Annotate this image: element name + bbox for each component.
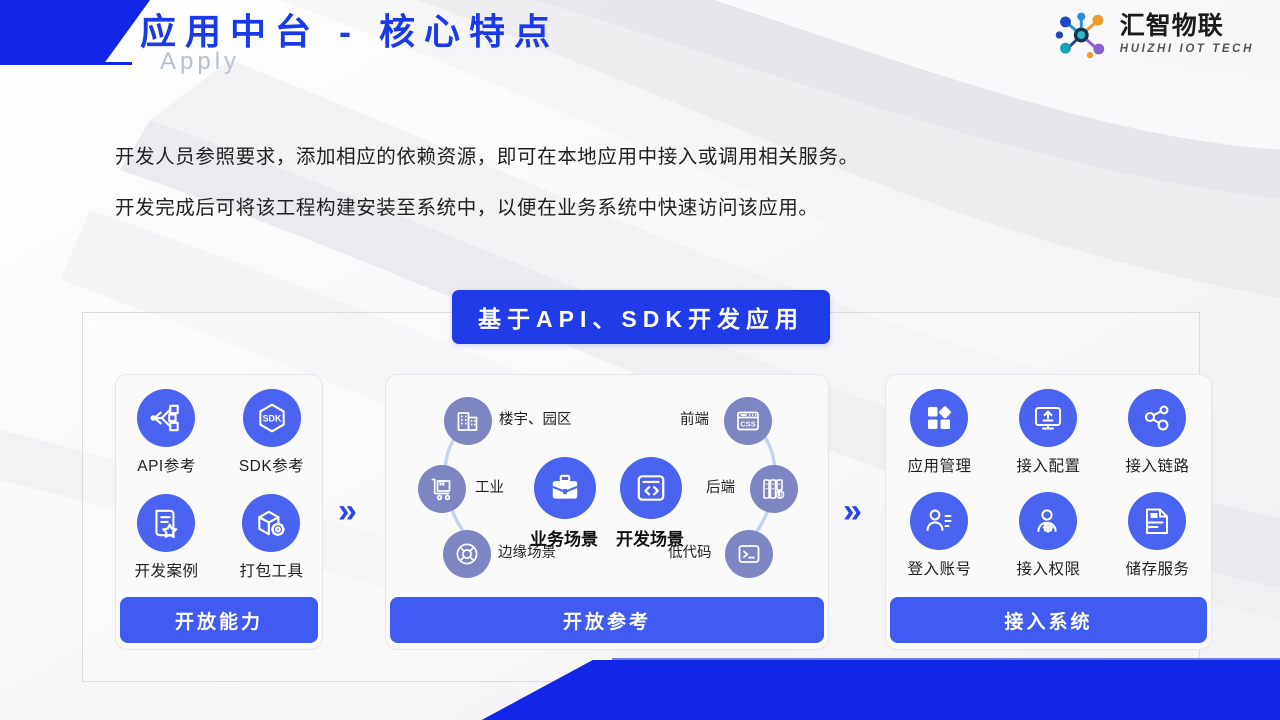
server-lb-icon[interactable]: LB: [750, 465, 798, 513]
icon-label: 应用管理: [907, 454, 971, 476]
briefcase-icon[interactable]: [534, 457, 596, 519]
edge-node-icon[interactable]: [443, 530, 491, 578]
icon-item-sdk-reference[interactable]: SDK SDK参考: [239, 389, 304, 476]
icon-label: API参考: [137, 454, 195, 476]
share-network-icon: [1128, 389, 1186, 447]
icon-item-dev-case[interactable]: 开发案例: [134, 494, 198, 581]
right-icon-grid: 应用管理 接入配置: [886, 389, 1211, 579]
sdk-hexagon-icon: SDK: [243, 389, 301, 447]
brand-logo: 汇智物联 HUIZHI IOT TECH: [1055, 8, 1254, 62]
chevron-right-icon-2: »: [843, 494, 856, 528]
icon-label: 登入账号: [907, 557, 971, 579]
user-account-icon: [910, 492, 968, 550]
panel-footer-open-capability[interactable]: 开放能力: [120, 597, 318, 643]
storage-document-icon: [1128, 492, 1186, 550]
logo-company-name-en: HUIZHI IOT TECH: [1120, 44, 1254, 56]
panel-footer-open-reference[interactable]: 开放参考: [390, 597, 824, 643]
footer-accent-parallelogram: [478, 660, 1280, 720]
icon-item-storage-service[interactable]: 储存服务: [1125, 492, 1189, 579]
slide-header: Apply 应用中台 - 核心特点 汇智物联 HUIZ: [0, 0, 1280, 70]
panel-open-capability: API参考 SDK SDK参考: [115, 374, 323, 650]
building-icon[interactable]: [444, 397, 492, 445]
slide-canvas: Apply 应用中台 - 核心特点 汇智物联 HUIZ: [0, 0, 1280, 720]
panel-footer-access-system[interactable]: 接入系统: [890, 597, 1207, 643]
icon-item-access-config[interactable]: 接入配置: [1016, 389, 1080, 476]
code-window-icon[interactable]: [620, 457, 682, 519]
left-icon-grid: API参考 SDK SDK参考: [116, 389, 322, 581]
header-accent-underline: [0, 62, 132, 65]
icon-label: 接入配置: [1016, 454, 1080, 476]
page-title: 应用中台 - 核心特点: [140, 7, 559, 57]
cluster-business-scene: 楼宇、园区 工业 边缘场景: [386, 375, 608, 603]
terminal-icon[interactable]: [725, 530, 773, 578]
icon-item-login-account[interactable]: 登入账号: [907, 492, 971, 579]
satellite-label-building: 楼宇、园区: [499, 408, 572, 429]
icon-label: 打包工具: [239, 559, 303, 581]
panel-open-reference: 楼宇、园区 工业 边缘场景: [385, 374, 829, 650]
box-gear-icon: [242, 494, 300, 552]
icon-label: 开发案例: [134, 559, 198, 581]
icon-item-access-permission[interactable]: 接入权限: [1016, 492, 1080, 579]
package-cart-icon[interactable]: [418, 465, 466, 513]
user-permission-icon: [1019, 492, 1077, 550]
footer-accent-line: [612, 658, 1280, 660]
hub-label-business-scene: 业务场景: [530, 525, 598, 550]
hub-label-dev-scene: 开发场景: [616, 525, 684, 550]
icon-item-app-management[interactable]: 应用管理: [907, 389, 971, 476]
icon-label: 储存服务: [1125, 557, 1189, 579]
icon-label: SDK参考: [239, 454, 304, 476]
api-branch-icon: [137, 389, 195, 447]
intro-line-1: 开发人员参照要求，添加相应的依赖资源，即可在本地应用中接入或调用相关服务。: [115, 140, 859, 169]
icon-item-access-link[interactable]: 接入链路: [1125, 389, 1189, 476]
document-star-icon: [137, 494, 195, 552]
icon-label: 接入权限: [1016, 557, 1080, 579]
app-blocks-icon: [910, 389, 968, 447]
icon-item-packaging-tool[interactable]: 打包工具: [239, 494, 303, 581]
icon-item-api-reference[interactable]: API参考: [137, 389, 195, 476]
satellite-label-frontend: 前端: [680, 408, 709, 429]
svg-text:CSS: CSS: [740, 419, 756, 428]
molecule-logo-icon: [1055, 12, 1111, 58]
header-accent-parallelogram: [0, 0, 150, 62]
icon-label: 接入链路: [1125, 454, 1189, 476]
diagram-title-banner: 基于API、SDK开发应用: [452, 290, 830, 344]
satellite-label-backend: 后端: [706, 476, 735, 497]
panel-access-system: 应用管理 接入配置: [885, 374, 1212, 650]
intro-line-2: 开发完成后可将该工程构建安装至系统中，以便在业务系统中快速访问该应用。: [115, 191, 819, 220]
svg-text:SDK: SDK: [262, 414, 281, 424]
css-browser-icon[interactable]: CSS: [724, 397, 772, 445]
satellite-label-industry: 工业: [475, 476, 504, 497]
logo-company-name-cn: 汇智物联: [1120, 14, 1254, 39]
svg-text:LB: LB: [777, 493, 784, 499]
monitor-config-icon: [1019, 389, 1077, 447]
chevron-right-icon-1: »: [338, 494, 351, 528]
cluster-dev-scene: CSS 前端 LB 后端: [608, 375, 830, 603]
